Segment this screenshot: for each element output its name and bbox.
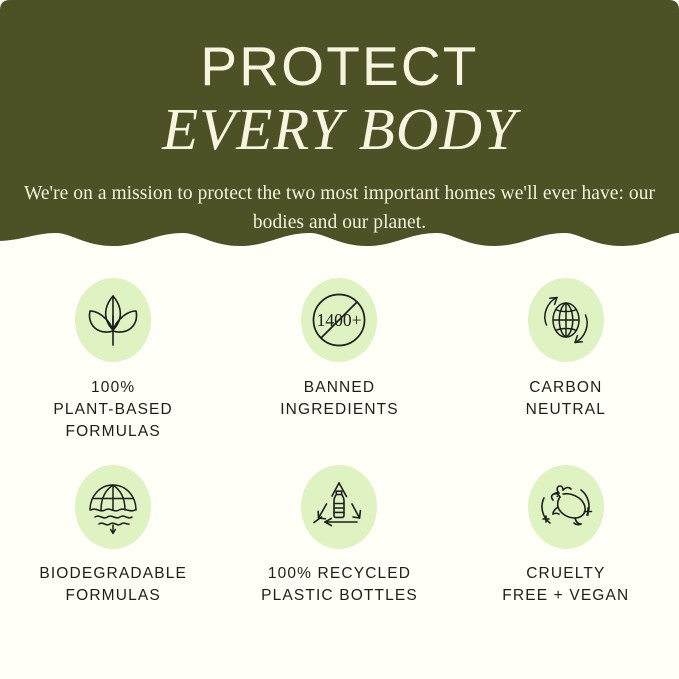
recycled-bottle-icon	[309, 477, 369, 537]
badge-label: 100% RECYCLED PLASTIC BOTTLES	[261, 563, 418, 607]
badge-banned-ingredients: 1400+ BANNED INGREDIENTS	[226, 278, 452, 443]
header-banner: PROTECT EVERY BODY We're on a mission to…	[0, 0, 679, 262]
badge-icon-circle	[528, 465, 604, 549]
brand-values-infographic: PROTECT EVERY BODY We're on a mission to…	[0, 0, 679, 679]
badge-cruelty-free: CRUELTY FREE + VEGAN	[453, 465, 679, 607]
banned-ingredients-icon: 1400+	[309, 290, 369, 350]
badge-label: BIODEGRADABLE FORMULAS	[39, 563, 187, 607]
badge-grid: 100% PLANT-BASED FORMULAS 1400+ BANNED I…	[0, 278, 679, 607]
cruelty-free-rabbit-icon	[535, 478, 597, 536]
page-title-line-2: EVERY BODY	[0, 94, 679, 159]
badge-label: BANNED INGREDIENTS	[280, 377, 399, 421]
badge-recycled-bottles: 100% RECYCLED PLASTIC BOTTLES	[226, 465, 452, 607]
page-title-line-1: PROTECT	[0, 0, 679, 94]
badge-label: CRUELTY FREE + VEGAN	[502, 563, 629, 607]
header-content: PROTECT EVERY BODY We're on a mission to…	[0, 0, 679, 238]
badge-biodegradable: BIODEGRADABLE FORMULAS	[0, 465, 226, 607]
carbon-neutral-globe-icon	[535, 289, 597, 351]
badge-row-top: 100% PLANT-BASED FORMULAS 1400+ BANNED I…	[0, 278, 679, 443]
badge-label: CARBON NEUTRAL	[526, 377, 606, 421]
badge-icon-circle	[75, 465, 151, 549]
plant-leaves-icon	[82, 290, 144, 350]
badge-icon-circle	[528, 278, 604, 362]
badge-icon-circle	[301, 465, 377, 549]
biodegradable-globe-water-icon	[82, 476, 144, 538]
badge-plant-based: 100% PLANT-BASED FORMULAS	[0, 278, 226, 443]
header-subtitle: We're on a mission to protect the two mo…	[0, 159, 679, 237]
badge-label: 100% PLANT-BASED FORMULAS	[53, 377, 172, 443]
banned-count-text: 1400+	[317, 310, 362, 330]
badge-icon-circle	[75, 278, 151, 362]
badge-icon-circle: 1400+	[301, 278, 377, 362]
badge-carbon-neutral: CARBON NEUTRAL	[453, 278, 679, 443]
badge-row-bottom: BIODEGRADABLE FORMULAS	[0, 465, 679, 607]
